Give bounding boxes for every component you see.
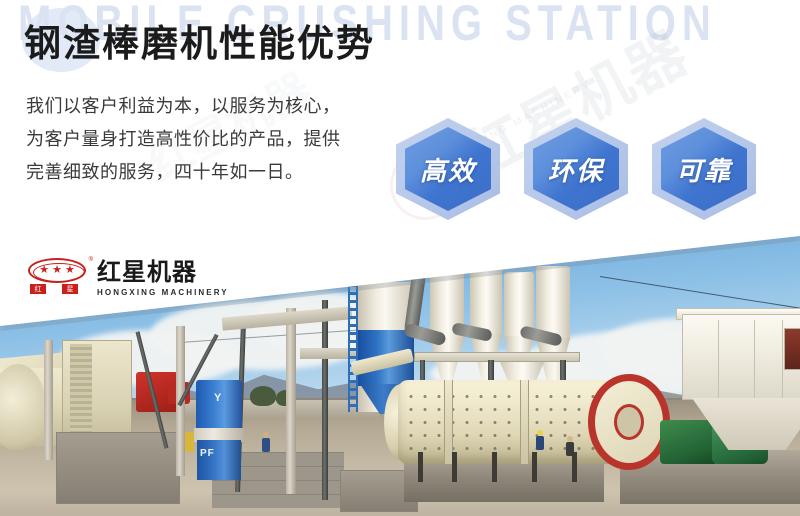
brand-logo[interactable]: ★ ★ ★ ® 红 星 红星机器 HONGXING MACHINERY: [28, 252, 229, 297]
logo-badge-left: 红: [30, 284, 46, 294]
badge-label: 高效: [396, 118, 500, 220]
mill-band: [520, 380, 529, 464]
support-pole: [286, 308, 296, 494]
badge-reliable[interactable]: 可靠: [652, 118, 756, 220]
page-title: 钢渣棒磨机性能优势: [24, 13, 375, 67]
registered-icon: ®: [89, 257, 93, 263]
logo-brand-en: HONGXING MACHINERY: [97, 288, 229, 297]
panel-seam: [718, 320, 719, 398]
cyclone-column-bottom: [197, 440, 241, 480]
machine-grate: [70, 344, 92, 444]
logo-oval-inner-icon: [33, 263, 85, 282]
badge-efficient[interactable]: 高效: [396, 118, 500, 220]
mill-leg: [532, 452, 537, 482]
panel-seam: [782, 320, 783, 398]
mill-gear-hub: [614, 404, 644, 440]
cyclone-column-top: [196, 380, 242, 430]
platform: [414, 352, 580, 362]
concrete-block: [56, 432, 180, 504]
cyclone-label-y: Y: [214, 392, 221, 404]
logo-sub-badges: 红 星: [30, 284, 78, 294]
tree: [250, 386, 276, 406]
logo-oval-icon: ★ ★ ★: [28, 258, 86, 283]
mill-leg: [572, 452, 577, 482]
cyclone-label-pf: PF: [200, 448, 215, 459]
collector-window: [784, 328, 800, 370]
logo-brand-cn: 红星机器: [97, 252, 229, 287]
banner-root: Y PF: [0, 0, 800, 516]
logo-text: 红星机器 HONGXING MACHINERY: [97, 252, 229, 297]
logo-star-emblem-icon: ★ ★ ★ ® 红 星: [28, 256, 88, 294]
badge-label: 环保: [524, 118, 628, 220]
ladder: [348, 284, 358, 412]
mill-leg: [492, 452, 497, 482]
panel-seam: [754, 320, 755, 398]
logo-badge-right: 星: [62, 284, 78, 294]
support-pole: [322, 300, 328, 500]
support-pole: [44, 340, 53, 460]
badge-eco[interactable]: 环保: [524, 118, 628, 220]
mill-leg: [452, 452, 457, 482]
description-text: 我们以客户利益为本，以服务为核心，为客户量身打造高性价比的产品，提供完善细致的服…: [26, 90, 346, 189]
green-motor: [660, 420, 718, 464]
badge-label: 可靠: [652, 118, 756, 220]
mill-leg: [418, 452, 423, 482]
